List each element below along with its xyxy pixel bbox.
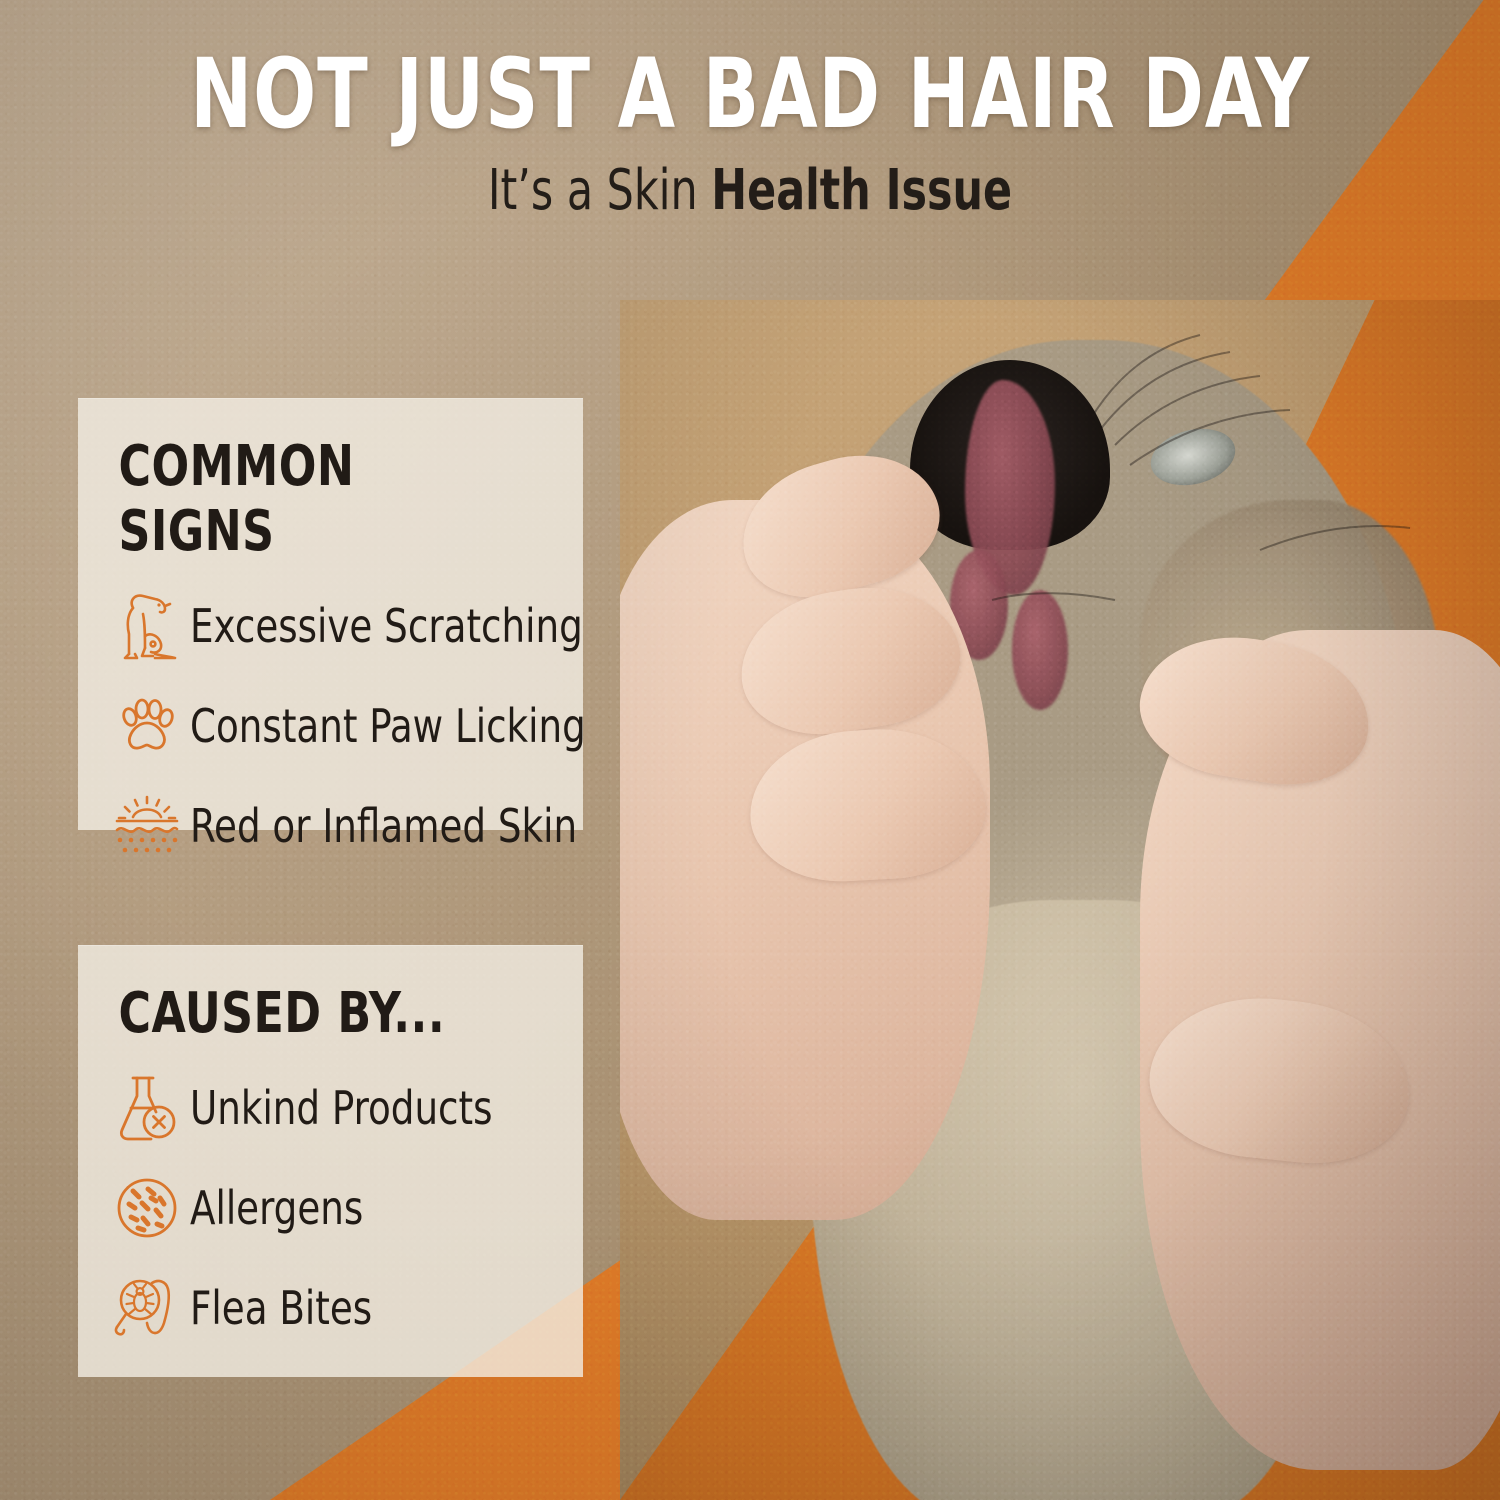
paw-print-icon <box>104 695 190 757</box>
flea-magnifier-icon <box>104 1273 190 1343</box>
poster-root: NOT JUST A BAD HAIR DAY It’s a Skin Heal… <box>0 0 1500 1500</box>
dog-photo-content <box>620 300 1500 1500</box>
list-item-label: Excessive Scratching <box>190 599 583 653</box>
signs-list: Excessive Scratching Constant Paw Lickin… <box>78 566 583 876</box>
list-item-label: Allergens <box>190 1181 363 1235</box>
allergen-germs-icon <box>104 1176 190 1240</box>
causes-list: Unkind Products <box>78 1048 583 1358</box>
list-item[interactable]: Unkind Products <box>104 1058 583 1158</box>
card-caused-by: CAUSED BY... Unkind Products <box>78 945 583 1377</box>
card-heading: CAUSED BY... <box>78 945 522 1048</box>
list-item[interactable]: Allergens <box>104 1158 583 1258</box>
photo-vignette <box>620 300 1500 1500</box>
card-common-signs: COMMON SIGNS <box>78 398 583 830</box>
list-item[interactable]: Flea Bites <box>104 1258 583 1358</box>
list-item-label: Constant Paw Licking <box>190 699 586 753</box>
list-item[interactable]: Red or Inflamed Skin <box>104 776 583 876</box>
header-block: NOT JUST A BAD HAIR DAY It’s a Skin Heal… <box>0 46 1500 221</box>
flask-no-icon <box>104 1072 190 1144</box>
page-subtitle: It’s a Skin Health Issue <box>113 162 1388 221</box>
list-item-label: Flea Bites <box>190 1281 372 1335</box>
subtitle-light-part: It’s a Skin <box>488 158 711 223</box>
list-item[interactable]: Excessive Scratching <box>104 576 583 676</box>
inflamed-skin-icon <box>104 795 190 857</box>
dog-photo <box>620 300 1500 1500</box>
dog-scratching-icon <box>104 588 190 664</box>
list-item[interactable]: Constant Paw Licking <box>104 676 583 776</box>
subtitle-bold-part: Health Issue <box>711 158 1012 223</box>
card-heading: COMMON SIGNS <box>78 398 522 566</box>
list-item-label: Red or Inflamed Skin <box>190 799 577 853</box>
list-item-label: Unkind Products <box>190 1081 493 1135</box>
page-title: NOT JUST A BAD HAIR DAY <box>105 46 1395 144</box>
